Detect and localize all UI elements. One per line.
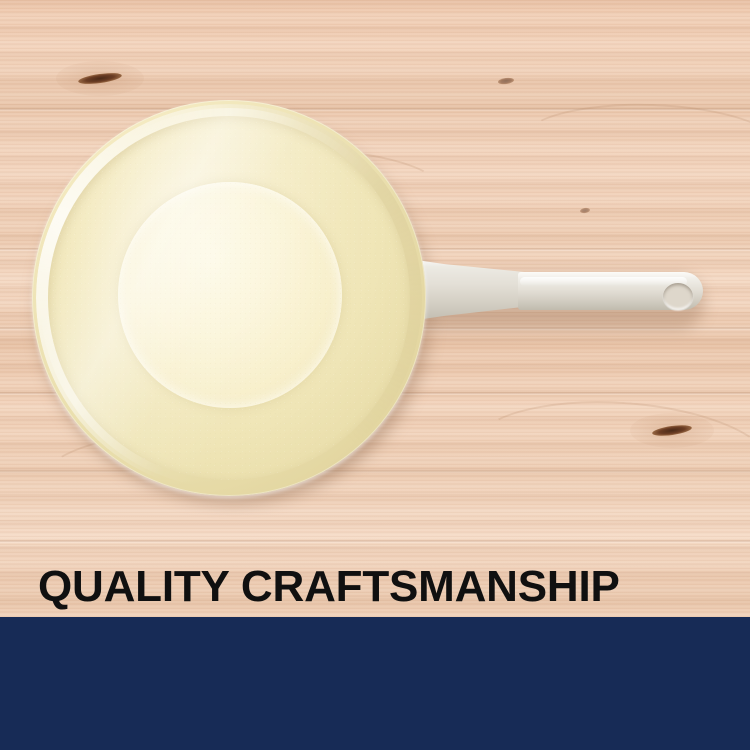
product-feature-card: QUALITY CRAFTSMANSHIP • Meticulous atten… [0, 0, 750, 750]
handle-hanging-hole-icon [663, 283, 693, 310]
frying-pan [0, 0, 750, 560]
pan-cooking-surface [118, 182, 342, 408]
feature-band: • Meticulous attention to detail • Dishw… [0, 617, 750, 750]
pan-handle [398, 256, 703, 324]
headline: QUALITY CRAFTSMANSHIP [38, 563, 620, 611]
